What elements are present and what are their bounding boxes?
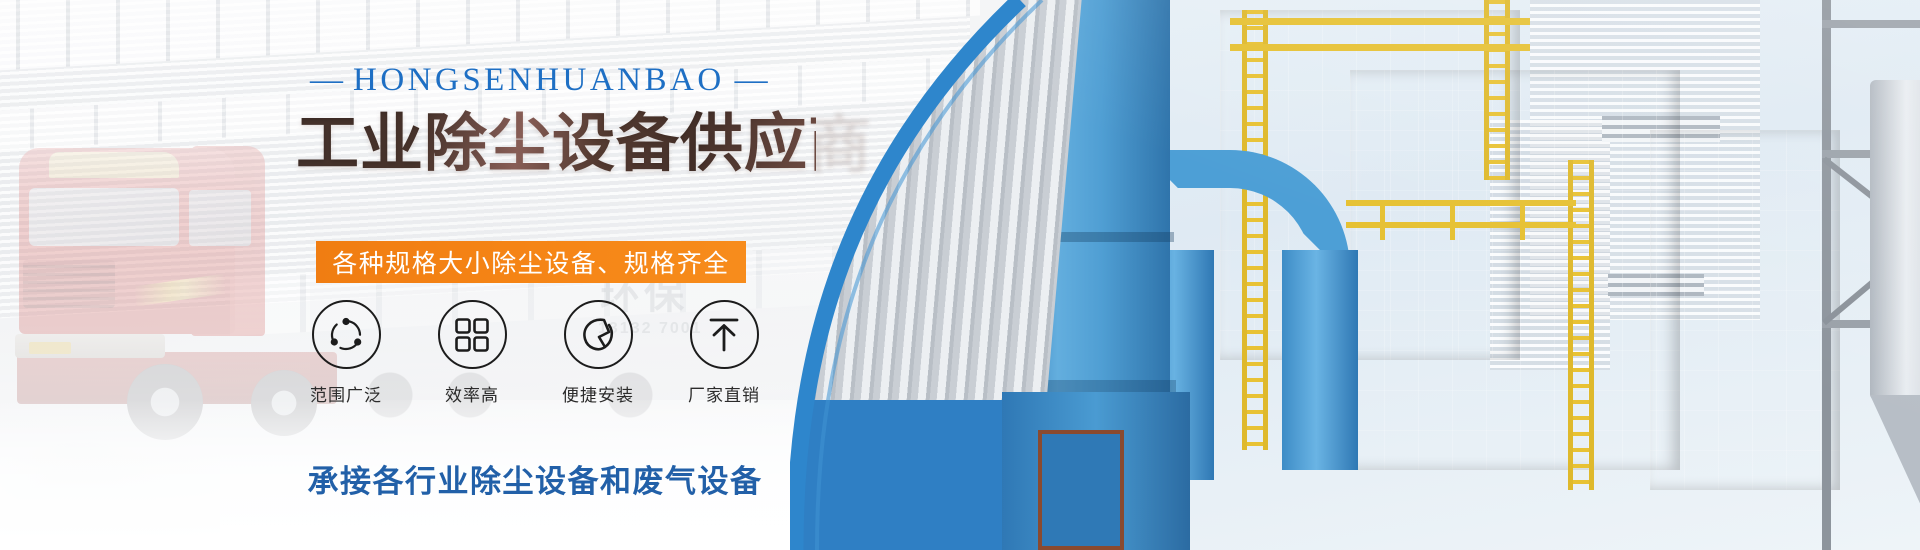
feature-label-4: 厂家直销 <box>688 381 760 406</box>
feature-icon-circle-4 <box>690 300 759 369</box>
feature-icon-circle-1 <box>312 300 381 369</box>
feature-icon-circle-3 <box>564 300 633 369</box>
subtitle-text: 各种规格大小除尘设备、规格齐全 <box>332 244 730 280</box>
feature-icon-circle-2 <box>438 300 507 369</box>
feature-list: 范围广泛 效率高 <box>300 300 770 406</box>
hero-content: —HONGSENHUANBAO— 工业除尘设备供应商 各种规格大小除尘设备、规格… <box>0 0 900 550</box>
hero-banner: 环保 13132 7001 <box>0 0 1920 550</box>
feature-label-1: 范围广泛 <box>310 381 382 406</box>
feature-label-2: 效率高 <box>445 381 499 406</box>
subtitle-orange-bar: 各种规格大小除尘设备、规格齐全 <box>316 241 746 283</box>
page-title: 工业除尘设备供应商 <box>296 110 816 179</box>
feature-item-3[interactable]: 便捷安装 <box>552 300 644 406</box>
feature-item-2[interactable]: 效率高 <box>426 300 518 406</box>
wrench-icon <box>578 315 618 355</box>
share-nodes-icon <box>326 315 366 355</box>
feature-item-4[interactable]: 厂家直销 <box>678 300 770 406</box>
tagline: 承接各行业除尘设备和废气设备 <box>300 456 770 501</box>
dash-left-icon: — <box>300 62 353 98</box>
dash-right-icon: — <box>725 62 778 98</box>
grid-squares-icon <box>454 317 490 353</box>
photo-haze-overlay <box>790 0 1920 550</box>
eyebrow-pinyin: —HONGSENHUANBAO— <box>300 62 770 99</box>
feature-label-3: 便捷安装 <box>562 381 634 406</box>
upload-arrow-icon <box>706 316 742 354</box>
eyebrow-text: HONGSENHUANBAO <box>353 62 725 98</box>
feature-item-1[interactable]: 范围广泛 <box>300 300 392 406</box>
factory-photo <box>790 0 1920 550</box>
